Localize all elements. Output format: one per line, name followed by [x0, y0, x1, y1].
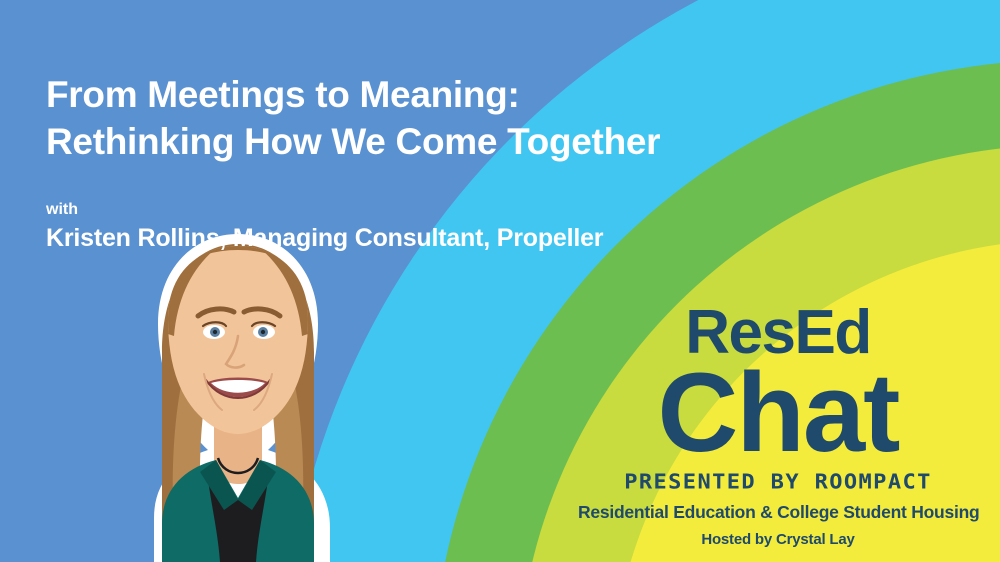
resed-chat-logo: ResEd Chat PRESENTED BY ROOMPACT Residen…: [578, 303, 978, 548]
with-label: with: [46, 200, 746, 219]
portrait-illustration: [58, 232, 418, 562]
headline-block: From Meetings to Meaning: Rethinking How…: [46, 72, 746, 253]
logo-host: Hosted by Crystal Lay: [578, 531, 978, 548]
logo-word-chat: Chat: [578, 361, 978, 464]
speaker-name: Kristen Rollins, Managing Consultant, Pr…: [46, 224, 746, 253]
title-card: From Meetings to Meaning: Rethinking How…: [0, 0, 1000, 562]
pupil-left: [213, 330, 217, 334]
title-line-1: From Meetings to Meaning:: [46, 72, 746, 119]
logo-presented-by: PRESENTED BY ROOMPACT: [578, 471, 978, 494]
logo-tagline: Residential Education & College Student …: [578, 502, 978, 523]
pupil-right: [261, 330, 265, 334]
speaker-portrait: [58, 232, 418, 562]
title-line-2: Rethinking How We Come Together: [46, 119, 746, 166]
